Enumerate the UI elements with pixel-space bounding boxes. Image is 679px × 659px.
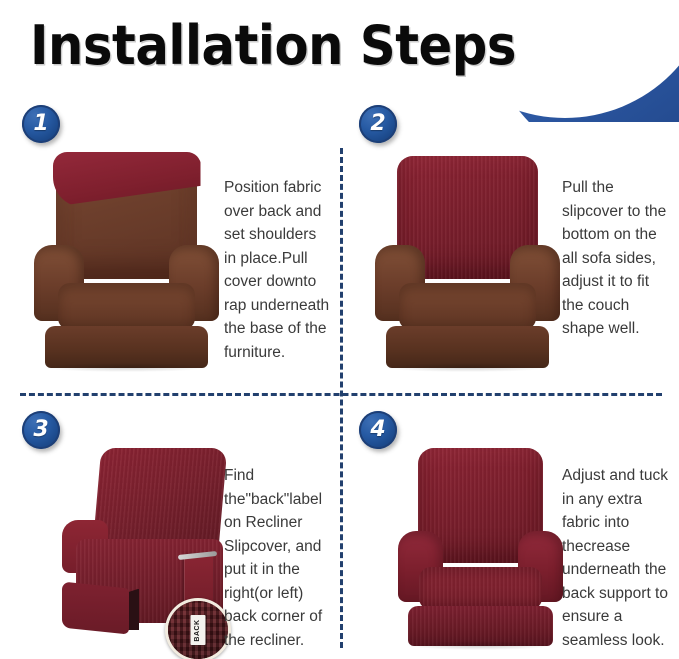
recliner-base: [386, 326, 549, 368]
recliner-seat-covered: [419, 567, 541, 611]
recliner-seat: [399, 283, 536, 330]
back-label-text: BACK: [195, 619, 202, 641]
recliner-backrest-covered: [93, 448, 228, 547]
recliner-illustration-step-4: [398, 448, 563, 646]
installation-steps-infographic: Installation Steps 1 Position fabric ove…: [0, 0, 679, 659]
fabric-texture: [93, 448, 228, 547]
recliner-seat: [58, 283, 195, 330]
step-1-instruction: Position fabric over back and set should…: [224, 176, 332, 364]
recliner-shadow: [45, 363, 208, 372]
back-label-tag: BACK: [191, 615, 206, 645]
page-title: Installation Steps: [30, 16, 516, 76]
recliner-base: [45, 326, 208, 368]
step-badge-3-number: 3: [33, 419, 48, 441]
recliner-footrest-covered: [62, 581, 129, 634]
recliner-illustration-step-1: [34, 156, 219, 368]
step-badge-3: 3: [22, 411, 60, 449]
step-badge-4-number: 4: [370, 419, 385, 441]
step-badge-2-number: 2: [370, 113, 385, 135]
recliner-shadow: [408, 641, 553, 650]
fabric-texture: [419, 567, 541, 611]
recliner-shadow: [386, 363, 549, 372]
step-badge-1: 1: [22, 105, 60, 143]
step-3-instruction: Find the"back"label on Recliner Slipcove…: [224, 464, 336, 652]
recliner-illustration-step-2: [375, 156, 560, 368]
step-badge-2: 2: [359, 105, 397, 143]
step-badge-1-number: 1: [33, 113, 48, 135]
step-4-instruction: Adjust and tuck in any extra fabric into…: [562, 464, 670, 652]
back-label-closeup: BACK: [165, 598, 231, 659]
step-badge-4: 4: [359, 411, 397, 449]
step-2-instruction: Pull the slipcover to the bottom on the …: [562, 176, 670, 341]
